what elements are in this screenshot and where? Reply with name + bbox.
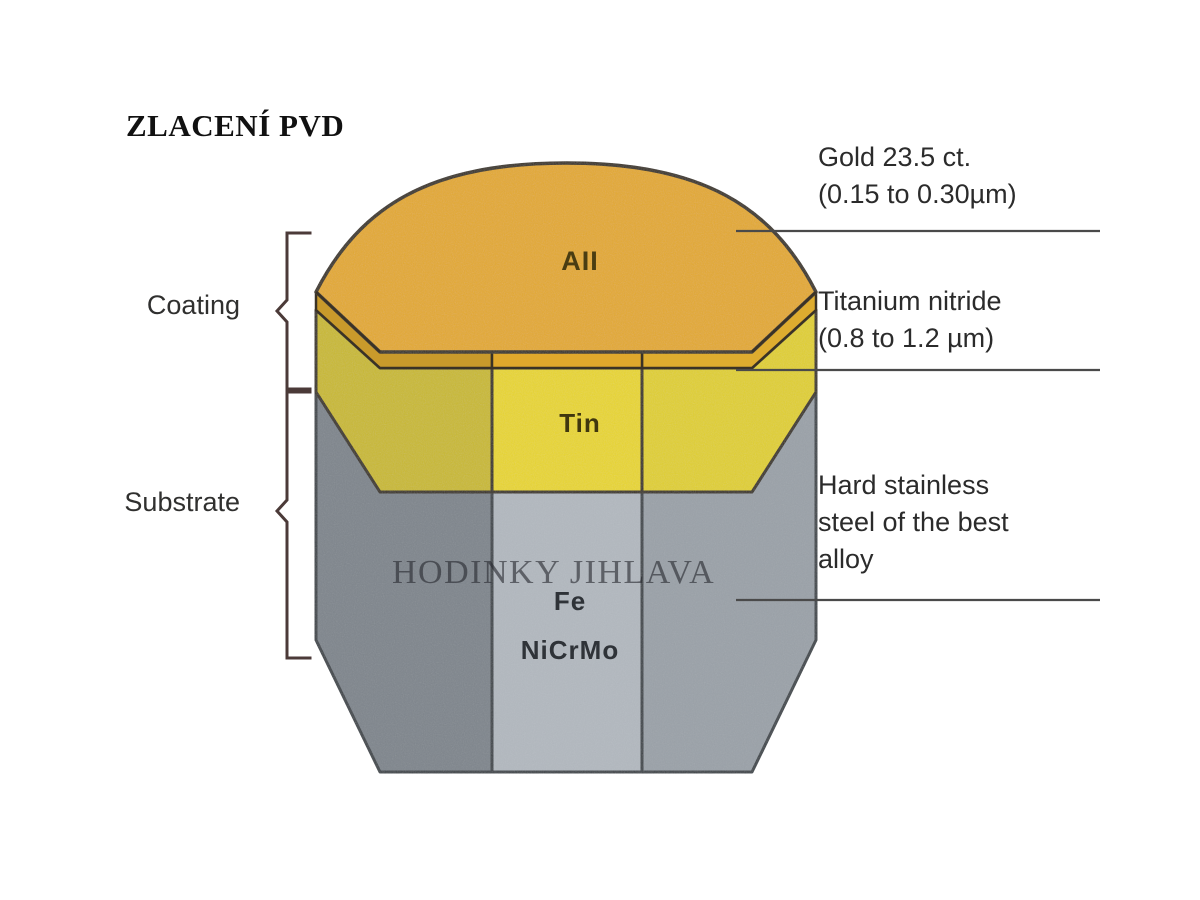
- gold-band-front: [492, 352, 642, 368]
- callout-steel: Hard stainless steel of the best alloy: [818, 467, 1009, 578]
- coating-bracket: [277, 233, 310, 389]
- solid-label-gold: AII: [490, 246, 670, 277]
- diagram-canvas: ZLACENÍ PVD: [0, 0, 1200, 900]
- callout-steel-line3: alloy: [818, 541, 1009, 578]
- callout-gold-line1: Gold 23.5 ct.: [818, 139, 1017, 176]
- callout-tin-line2: (0.8 to 1.2 µm): [818, 320, 1002, 357]
- callout-titanium-nitride: Titanium nitride (0.8 to 1.2 µm): [818, 283, 1002, 357]
- solid-label-tin: Tin: [500, 408, 660, 439]
- solid-label-nicrmo: NiCrMo: [450, 635, 690, 666]
- group-label-coating: Coating: [30, 290, 240, 321]
- callout-steel-line2: steel of the best: [818, 504, 1009, 541]
- group-label-substrate: Substrate: [20, 487, 240, 518]
- callout-gold: Gold 23.5 ct. (0.15 to 0.30µm): [818, 139, 1017, 213]
- callout-tin-line1: Titanium nitride: [818, 283, 1002, 320]
- pvd-layer-diagram: [0, 0, 1200, 900]
- callout-steel-line1: Hard stainless: [818, 467, 1009, 504]
- steel-front-face: [492, 492, 642, 772]
- callout-gold-line2: (0.15 to 0.30µm): [818, 176, 1017, 213]
- solid-label-fe: Fe: [470, 586, 670, 617]
- substrate-bracket: [277, 392, 310, 658]
